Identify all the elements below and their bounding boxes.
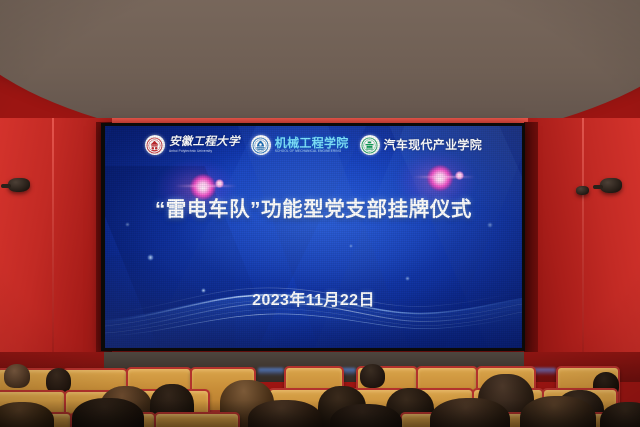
right-wall bbox=[528, 118, 640, 373]
logo-modern-automotive-industry-college: 汽车现代产业学院 bbox=[360, 135, 482, 155]
wall-speaker-left-icon bbox=[8, 178, 30, 192]
logo-mechanical-text: 机械工程学院 SCHOOL OF MECHANICAL ENGINEERING bbox=[275, 137, 349, 154]
logo-automotive-name-cn: 汽车现代产业学院 bbox=[384, 139, 482, 151]
screen-content: 安徽工程大学 Anhui Polytechnic University bbox=[105, 126, 522, 348]
wall-speaker-right-icon bbox=[600, 178, 622, 193]
logo-anhui-polytechnic-university: 安徽工程大学 Anhui Polytechnic University bbox=[145, 135, 240, 155]
audience-person bbox=[248, 400, 322, 427]
logo-automotive-text: 汽车现代产业学院 bbox=[384, 139, 482, 151]
logo-row: 安徽工程大学 Anhui Polytechnic University bbox=[105, 135, 522, 155]
logo-mechanical-name-en: SCHOOL OF MECHANICAL ENGINEERING bbox=[275, 150, 349, 153]
modern-automotive-industry-college-seal-icon bbox=[360, 135, 380, 155]
audience-head bbox=[4, 364, 30, 388]
audience-area bbox=[0, 362, 640, 427]
audience-person bbox=[520, 396, 596, 427]
seat bbox=[154, 412, 240, 427]
audience-head bbox=[360, 364, 385, 388]
logo-anhui-name-en: Anhui Polytechnic University bbox=[169, 150, 240, 153]
logo-mechanical-name-cn: 机械工程学院 bbox=[275, 137, 349, 149]
anhui-polytechnic-university-seal-icon bbox=[145, 135, 165, 155]
wall-speaker-right-small-icon bbox=[576, 186, 589, 195]
led-screen: 安徽工程大学 Anhui Polytechnic University bbox=[105, 126, 522, 348]
logo-anhui-text: 安徽工程大学 Anhui Polytechnic University bbox=[169, 137, 240, 153]
auditorium-scene: 安徽工程大学 Anhui Polytechnic University bbox=[0, 0, 640, 427]
logo-anhui-name-cn: 安徽工程大学 bbox=[169, 137, 240, 149]
screen-event-date: 2023年11月22日 bbox=[105, 286, 522, 310]
audience-person bbox=[72, 398, 144, 427]
screen-main-title: “雷电车队”功能型党支部挂牌仪式 bbox=[105, 192, 522, 222]
seat-gap-glow-1 bbox=[258, 368, 284, 375]
right-wall-seam bbox=[582, 118, 584, 373]
logo-school-of-mechanical-engineering: 机械工程学院 SCHOOL OF MECHANICAL ENGINEERING bbox=[251, 135, 349, 155]
school-of-mechanical-engineering-seal-icon bbox=[251, 135, 271, 155]
left-wall-seam bbox=[52, 118, 54, 373]
screen-recess-right bbox=[524, 122, 538, 372]
audience-person bbox=[430, 398, 510, 427]
